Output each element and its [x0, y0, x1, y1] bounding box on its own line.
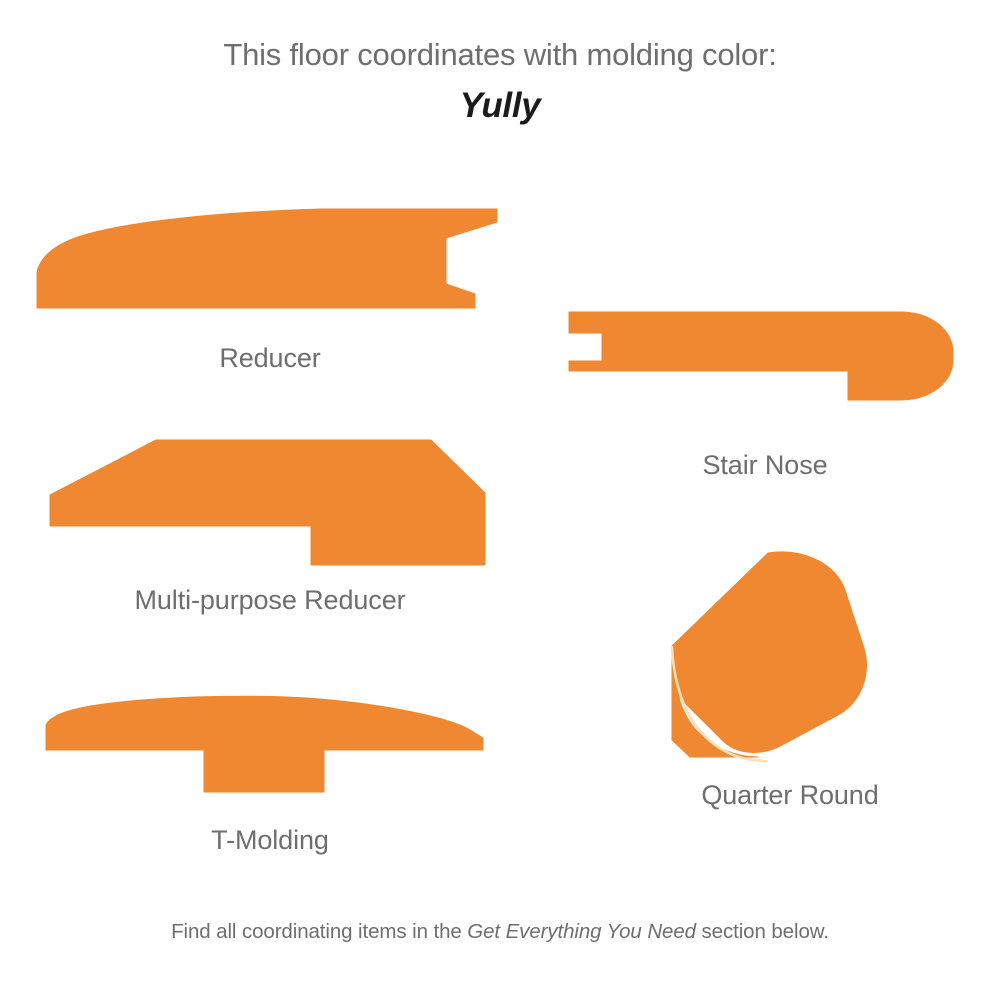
molding-label-multi-purpose-reducer: Multi-purpose Reducer	[20, 585, 520, 616]
molding-item-quarter-round[interactable]: Quarter Round	[640, 530, 940, 820]
multi-purpose-reducer-profile-icon	[20, 425, 520, 580]
molding-label-t-molding: T-Molding	[20, 825, 520, 856]
molding-item-reducer[interactable]: Reducer	[20, 200, 520, 390]
page-title: This floor coordinates with molding colo…	[0, 36, 1000, 73]
footer-note: Find all coordinating items in the Get E…	[0, 920, 1000, 944]
molding-item-stair-nose[interactable]: Stair Nose	[555, 295, 975, 510]
molding-item-t-molding[interactable]: T-Molding	[20, 680, 520, 875]
stair-nose-profile-icon	[555, 295, 975, 445]
molding-coordination-panel: This floor coordinates with molding colo…	[0, 0, 1000, 1000]
molding-item-multi-purpose-reducer[interactable]: Multi-purpose Reducer	[20, 425, 520, 630]
color-name: Yully	[0, 87, 1000, 126]
molding-label-reducer: Reducer	[20, 343, 520, 374]
footer-text-emphasis: Get Everything You Need	[467, 920, 696, 943]
quarter-round-profile-icon	[640, 530, 940, 780]
footer-text-before: Find all coordinating items in the	[171, 920, 467, 943]
t-molding-profile-icon	[20, 680, 520, 820]
molding-label-stair-nose: Stair Nose	[555, 450, 975, 481]
reducer-profile-icon	[20, 200, 520, 340]
header: This floor coordinates with molding colo…	[0, 0, 1000, 126]
molding-label-quarter-round: Quarter Round	[640, 780, 940, 811]
footer-text-after: section below.	[696, 920, 829, 943]
